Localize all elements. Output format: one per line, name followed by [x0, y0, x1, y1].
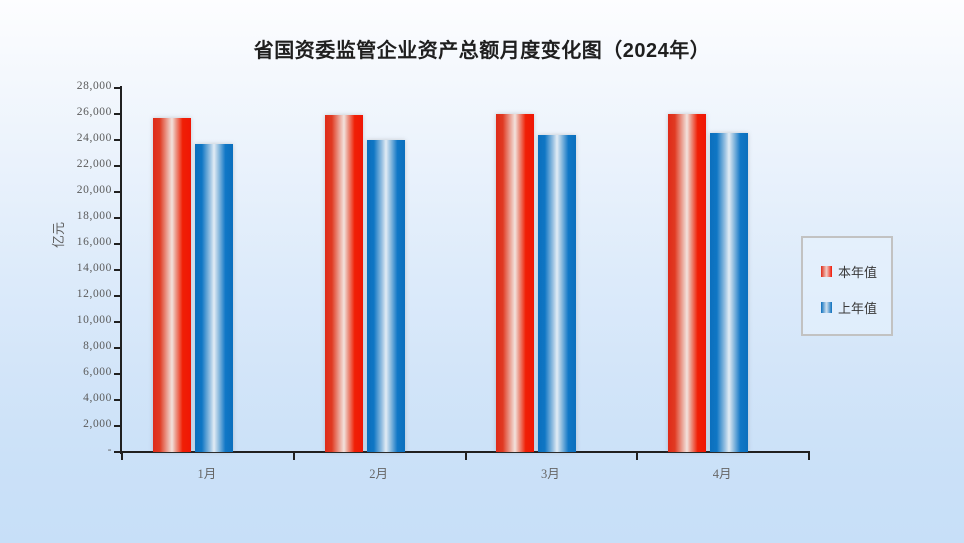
bar-previous-2月[interactable] [367, 140, 405, 452]
plot-area [121, 88, 808, 452]
y-tick-mark [114, 217, 121, 219]
y-tick-mark [114, 243, 121, 245]
chart-legend: 本年值 上年值 [801, 236, 893, 336]
y-tick-label: 10,000 [52, 314, 112, 326]
y-tick-label: 20,000 [52, 184, 112, 196]
y-tick-mark [114, 269, 121, 271]
legend-item-current[interactable]: 本年值 [821, 262, 877, 281]
y-tick-label: 22,000 [52, 158, 112, 170]
bar-current-3月[interactable] [496, 114, 534, 452]
y-tick-mark [114, 191, 121, 193]
y-tick-label: 12,000 [52, 288, 112, 300]
x-tick-label: 1月 [147, 463, 267, 482]
y-tick-label: 18,000 [52, 210, 112, 222]
y-tick-mark [114, 87, 121, 89]
x-tick-label: 2月 [319, 463, 439, 482]
bar-current-1月[interactable] [153, 118, 191, 452]
y-tick-mark [114, 425, 121, 427]
y-tick-label: 6,000 [52, 366, 112, 378]
legend-label-current: 本年值 [838, 262, 877, 281]
y-tick-mark [114, 321, 121, 323]
y-tick-label: 16,000 [52, 236, 112, 248]
legend-label-previous: 上年值 [838, 298, 877, 317]
x-tick-mark [465, 452, 467, 460]
chart-title: 省国资委监管企业资产总额月度变化图（2024年） [0, 34, 964, 63]
legend-swatch-current-icon [821, 266, 832, 277]
y-tick-label: 14,000 [52, 262, 112, 274]
y-tick-label: 26,000 [52, 106, 112, 118]
bar-previous-4月[interactable] [710, 133, 748, 452]
y-tick-mark [114, 347, 121, 349]
x-tick-label: 4月 [662, 463, 782, 482]
x-tick-mark [121, 452, 123, 460]
legend-swatch-previous-icon [821, 302, 832, 313]
y-tick-mark [114, 399, 121, 401]
y-tick-label: 28,000 [52, 80, 112, 92]
legend-item-previous[interactable]: 上年值 [821, 298, 877, 317]
y-tick-label: 24,000 [52, 132, 112, 144]
y-tick-mark [114, 165, 121, 167]
bar-previous-3月[interactable] [538, 135, 576, 452]
y-axis-tick-labels: 28,00026,00024,00022,00020,00018,00016,0… [50, 0, 112, 543]
bar-current-4月[interactable] [668, 114, 706, 452]
y-tick-label: - [52, 444, 112, 456]
x-tick-mark [808, 452, 810, 460]
y-tick-label: 8,000 [52, 340, 112, 352]
y-tick-mark [114, 113, 121, 115]
bar-previous-1月[interactable] [195, 144, 233, 452]
y-tick-mark [114, 373, 121, 375]
y-tick-mark [114, 295, 121, 297]
y-tick-mark [114, 139, 121, 141]
x-tick-mark [636, 452, 638, 460]
chart-container: 省国资委监管企业资产总额月度变化图（2024年） 亿元 28,00026,000… [0, 0, 964, 543]
y-tick-label: 4,000 [52, 392, 112, 404]
x-tick-label: 3月 [490, 463, 610, 482]
x-tick-mark [293, 452, 295, 460]
y-tick-label: 2,000 [52, 418, 112, 430]
bar-current-2月[interactable] [325, 115, 363, 452]
y-tick-mark [114, 451, 121, 453]
